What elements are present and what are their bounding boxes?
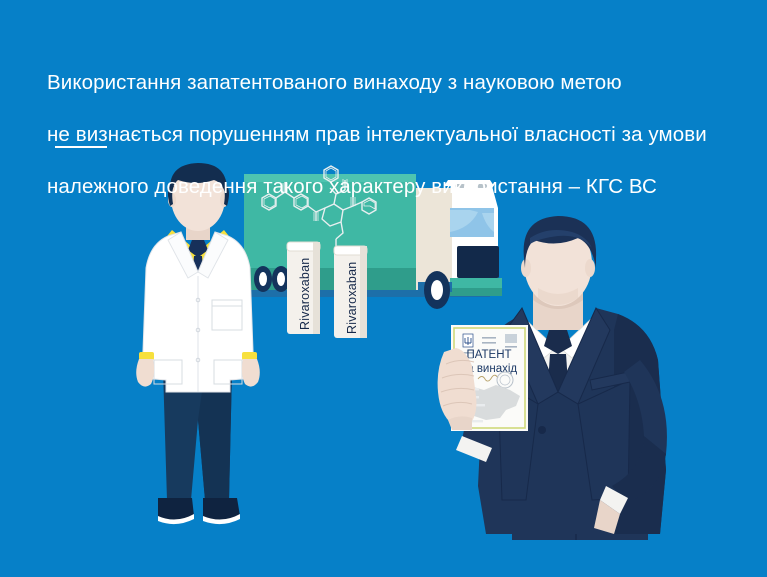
doctor-hand-right: [242, 359, 260, 387]
headline-line-3: належного доведення такого характеру вик…: [47, 174, 737, 200]
bottle-right: Rivaroxaban: [334, 246, 367, 338]
businessman-ear-right: [585, 259, 595, 277]
businessman-thumb: [448, 416, 472, 430]
headline-line-1: Використання запатентованого винаходу з …: [47, 70, 737, 96]
truck-front-grill: [457, 246, 499, 278]
truck-wheel-front-hub: [431, 280, 443, 300]
bottle-right-shade: [360, 246, 367, 338]
businessman-ear-left: [521, 259, 531, 277]
patent-header-rule-1: [482, 337, 496, 339]
patent-header-rule-2: [482, 342, 496, 344]
doctor-cuff-right: [242, 352, 257, 360]
truck-wheel-rear-1-hub: [259, 272, 267, 286]
patent-title-primary: ПАТЕНТ: [466, 349, 511, 361]
doctor-hand-left: [136, 359, 154, 387]
businessman-head-group: [521, 216, 596, 306]
infographic-canvas: Rivaroxaban Rivaroxaban: [0, 0, 767, 577]
doctor-cuff-left: [139, 352, 154, 360]
bottle-left: Rivaroxaban: [287, 242, 320, 334]
patent-header-rule-3: [505, 346, 517, 348]
patent-header-box-right: [505, 334, 517, 343]
businessman-jacket-button: [538, 426, 546, 434]
truck-wheel-rear-2-hub: [277, 272, 285, 286]
bottle-right-label: Rivaroxaban: [345, 262, 359, 334]
bottle-left-shade: [313, 242, 320, 334]
headline-line-2: не визнається порушенням прав інтелектуа…: [47, 122, 737, 148]
truck-bumper-lower: [450, 288, 502, 296]
headline-text-block: Використання запатентованого винаходу з …: [47, 44, 737, 226]
headline-underline-rule: [55, 146, 107, 148]
bottle-left-label: Rivaroxaban: [298, 258, 312, 330]
